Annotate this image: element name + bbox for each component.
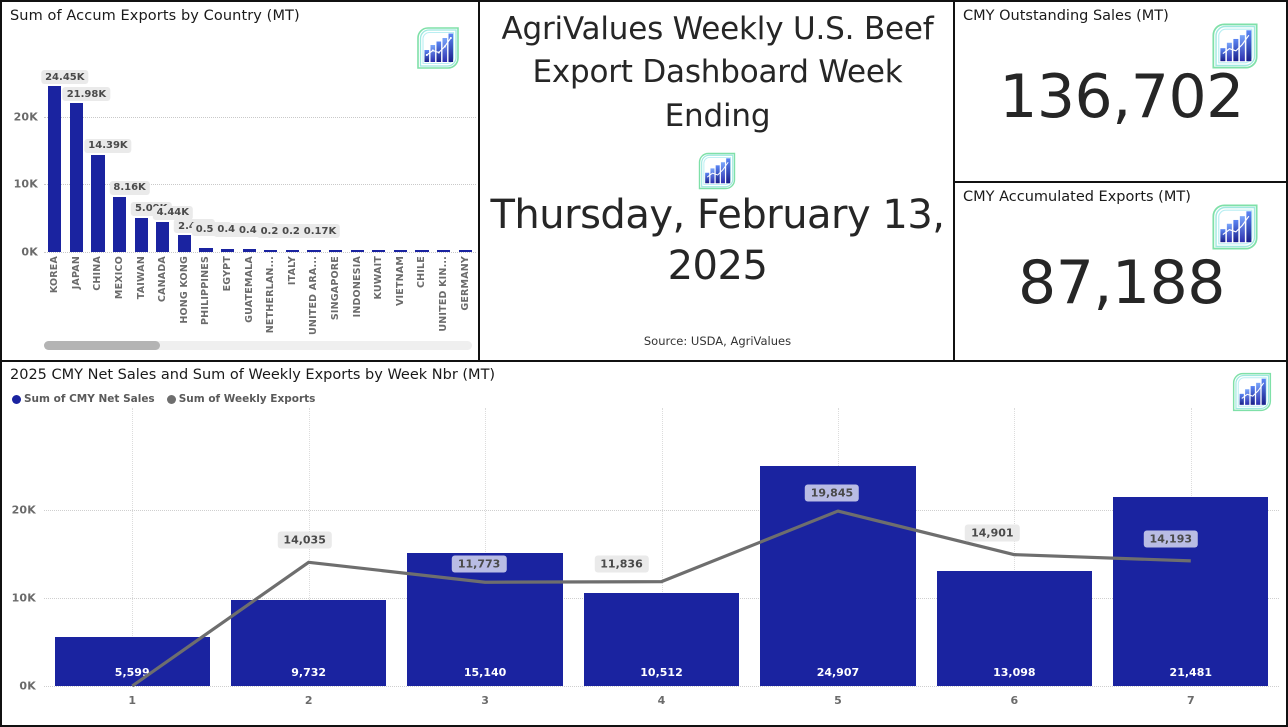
accum-category-label: NETHERLAN...	[265, 256, 276, 333]
accum-bar[interactable]	[199, 248, 212, 252]
combo-x-axis-tick: 1	[128, 694, 136, 707]
accum-chart-scrollbar-track[interactable]	[44, 341, 472, 350]
accum-x-axis-tick: MEXICO	[109, 256, 131, 338]
kpi-accumulated-title: CMY Accumulated Exports (MT)	[963, 189, 1191, 205]
combo-line-value-label: 11,836	[594, 555, 648, 572]
combo-y-axis-tick: 0K	[2, 680, 36, 693]
accum-category-label: ITALY	[287, 256, 298, 285]
accum-bar[interactable]	[178, 235, 191, 252]
accum-bar[interactable]	[437, 250, 450, 252]
combo-x-axis-tick: 2	[305, 694, 313, 707]
combo-x-axis-tick: 7	[1187, 694, 1195, 707]
combo-line-value-label: 14,193	[1144, 530, 1198, 547]
accum-category-label: VIETNAM	[395, 256, 406, 306]
accum-bar[interactable]	[156, 222, 169, 252]
accum-gridline	[44, 252, 476, 253]
accum-bar[interactable]	[48, 86, 61, 252]
kpi-accumulated-value: 87,188	[955, 248, 1288, 318]
agrivalues-leaf-chart-logo	[696, 150, 738, 192]
combo-bar-value-label: 24,907	[817, 666, 859, 679]
accum-bar[interactable]	[351, 250, 364, 252]
accum-category-label: UNITED KIN...	[438, 256, 449, 332]
accum-x-axis-tick: CANADA	[152, 256, 174, 338]
accum-x-axis-tick: INDONESIA	[346, 256, 368, 338]
accum-bar-value-label: 0.17K	[300, 224, 340, 238]
accum-bar-value-label: 8.16K	[109, 181, 149, 195]
combo-y-axis-tick: 20K	[2, 503, 36, 516]
combo-bar-value-label: 21,481	[1170, 666, 1212, 679]
accum-category-label: INDONESIA	[352, 256, 363, 317]
combo-x-axis-tick: 6	[1011, 694, 1019, 707]
combo-bar-value-label: 9,732	[291, 666, 326, 679]
accum-bar[interactable]	[286, 250, 299, 252]
accum-bar-value-label: 24.45K	[41, 70, 88, 84]
combo-x-axis-tick: 5	[834, 694, 842, 707]
accum-category-label: UNITED ARA...	[308, 256, 319, 335]
legend-marker-dot-icon	[167, 395, 176, 404]
accum-x-axis-tick: EGYPT	[217, 256, 239, 338]
combo-line-value-label: 11,773	[452, 556, 506, 573]
accum-y-axis-tick: 20K	[2, 110, 38, 123]
accum-x-axis-tick: CHINA	[87, 256, 109, 338]
combo-bar-value-label: 15,140	[464, 666, 506, 679]
accum-category-label: TAIWAN	[136, 256, 147, 299]
combo-gridline	[44, 686, 1279, 687]
combo-x-axis-tick: 3	[481, 694, 489, 707]
accum-bar[interactable]	[91, 155, 104, 252]
accum-x-axis-tick: CHILE	[411, 256, 433, 338]
weekly-netsales-exports-panel: 2025 CMY Net Sales and Sum of Weekly Exp…	[0, 362, 1288, 727]
combo-chart-legend: Sum of CMY Net SalesSum of Weekly Export…	[12, 393, 315, 405]
accum-x-axis-tick: UNITED ARA...	[303, 256, 325, 338]
accum-bar[interactable]	[264, 250, 277, 252]
accum-category-label: PHILIPPINES	[200, 256, 211, 325]
accum-x-axis-tick: UNITED KIN...	[433, 256, 455, 338]
accum-category-label: CHILE	[416, 256, 427, 288]
accum-category-label: CANADA	[157, 256, 168, 302]
combo-bar-value-label: 13,098	[993, 666, 1035, 679]
accum-x-axis-tick: ITALY	[282, 256, 304, 338]
combo-x-axis-tick: 4	[658, 694, 666, 707]
kpi-outstanding-title: CMY Outstanding Sales (MT)	[963, 8, 1169, 24]
accum-bar-value-label: 21.98K	[63, 87, 110, 101]
combo-chart-plot-area: 0K10K20K5,59919,732215,140310,512424,907…	[2, 408, 1288, 725]
accum-chart-title: Sum of Accum Exports by Country (MT)	[10, 8, 300, 24]
accum-x-axis-tick: JAPAN	[66, 256, 88, 338]
accum-chart-scrollbar-thumb[interactable]	[44, 341, 160, 350]
legend-item[interactable]: Sum of Weekly Exports	[167, 393, 316, 405]
combo-bar-value-label: 10,512	[640, 666, 682, 679]
combo-chart-title: 2025 CMY Net Sales and Sum of Weekly Exp…	[10, 367, 495, 383]
accum-category-label: KOREA	[49, 256, 60, 293]
accum-bar[interactable]	[221, 249, 234, 252]
accum-bar[interactable]	[135, 218, 148, 252]
combo-bar-value-label: 5,599	[115, 666, 150, 679]
dashboard-date: Thursday, February 13, 2025	[488, 190, 947, 292]
accum-exports-chart-panel: Sum of Accum Exports by Country (MT)	[0, 0, 480, 362]
combo-line-value-label: 19,845	[805, 485, 859, 502]
dashboard-title-panel: AgriValues Weekly U.S. Beef Export Dashb…	[480, 0, 955, 362]
accum-bar[interactable]	[307, 250, 320, 252]
accum-category-label: GUATEMALA	[244, 256, 255, 323]
accum-bar[interactable]	[372, 250, 385, 252]
combo-bar[interactable]	[1113, 497, 1268, 686]
accum-bar[interactable]	[113, 197, 126, 252]
accum-bar[interactable]	[394, 250, 407, 252]
accum-category-label: MEXICO	[114, 256, 125, 299]
dashboard-heading: AgriValues Weekly U.S. Beef Export Dashb…	[494, 8, 941, 138]
kpi-outstanding-value: 136,702	[955, 62, 1288, 132]
accum-category-label: SINGAPORE	[330, 256, 341, 320]
accum-category-label: KUWAIT	[373, 256, 384, 300]
legend-label: Sum of CMY Net Sales	[24, 393, 155, 405]
accum-category-label: GERMANY	[460, 256, 471, 311]
accum-x-axis-tick: KUWAIT	[368, 256, 390, 338]
accum-bar-value-label: 4.44K	[153, 206, 193, 220]
accum-x-axis-tick: GERMANY	[454, 256, 476, 338]
combo-y-axis-tick: 10K	[2, 591, 36, 604]
accum-category-label: HONG KONG	[179, 256, 190, 324]
accum-bar[interactable]	[329, 250, 342, 252]
legend-label: Sum of Weekly Exports	[179, 393, 316, 405]
accum-x-axis-tick: HONG KONG	[174, 256, 196, 338]
accum-gridline	[44, 117, 476, 118]
accum-x-axis-tick: NETHERLAN...	[260, 256, 282, 338]
accum-x-axis-tick: VIETNAM	[390, 256, 412, 338]
accum-category-label: EGYPT	[222, 256, 233, 291]
combo-line-value-label: 14,901	[965, 524, 1019, 541]
accum-x-axis-tick: GUATEMALA	[238, 256, 260, 338]
accum-bar-value-label: 14.39K	[84, 139, 131, 153]
accum-bar[interactable]	[415, 250, 428, 252]
legend-marker-dot-icon	[12, 395, 21, 404]
accum-chart-plot-area: 0K10K20K24.45KKOREA21.98KJAPAN14.39KCHIN…	[2, 28, 478, 338]
dashboard-source-note: Source: USDA, AgriValues	[480, 334, 955, 348]
accum-x-axis-tick: TAIWAN	[130, 256, 152, 338]
accum-x-axis-tick: PHILIPPINES	[195, 256, 217, 338]
accum-x-axis-tick: SINGAPORE	[325, 256, 347, 338]
accum-x-axis-tick: KOREA	[44, 256, 66, 338]
accum-category-label: CHINA	[92, 256, 103, 291]
accum-y-axis-tick: 0K	[2, 246, 38, 259]
accum-category-label: JAPAN	[71, 256, 82, 289]
agrivalues-leaf-chart-logo	[1209, 201, 1261, 253]
accum-y-axis-tick: 10K	[2, 178, 38, 191]
accum-bar[interactable]	[243, 249, 256, 252]
combo-line-value-label: 14,035	[277, 532, 331, 549]
accum-bar[interactable]	[70, 103, 83, 252]
legend-item[interactable]: Sum of CMY Net Sales	[12, 393, 155, 405]
dashboard-root: Sum of Accum Exports by Country (MT)	[0, 0, 1288, 727]
accum-bar[interactable]	[459, 250, 472, 252]
